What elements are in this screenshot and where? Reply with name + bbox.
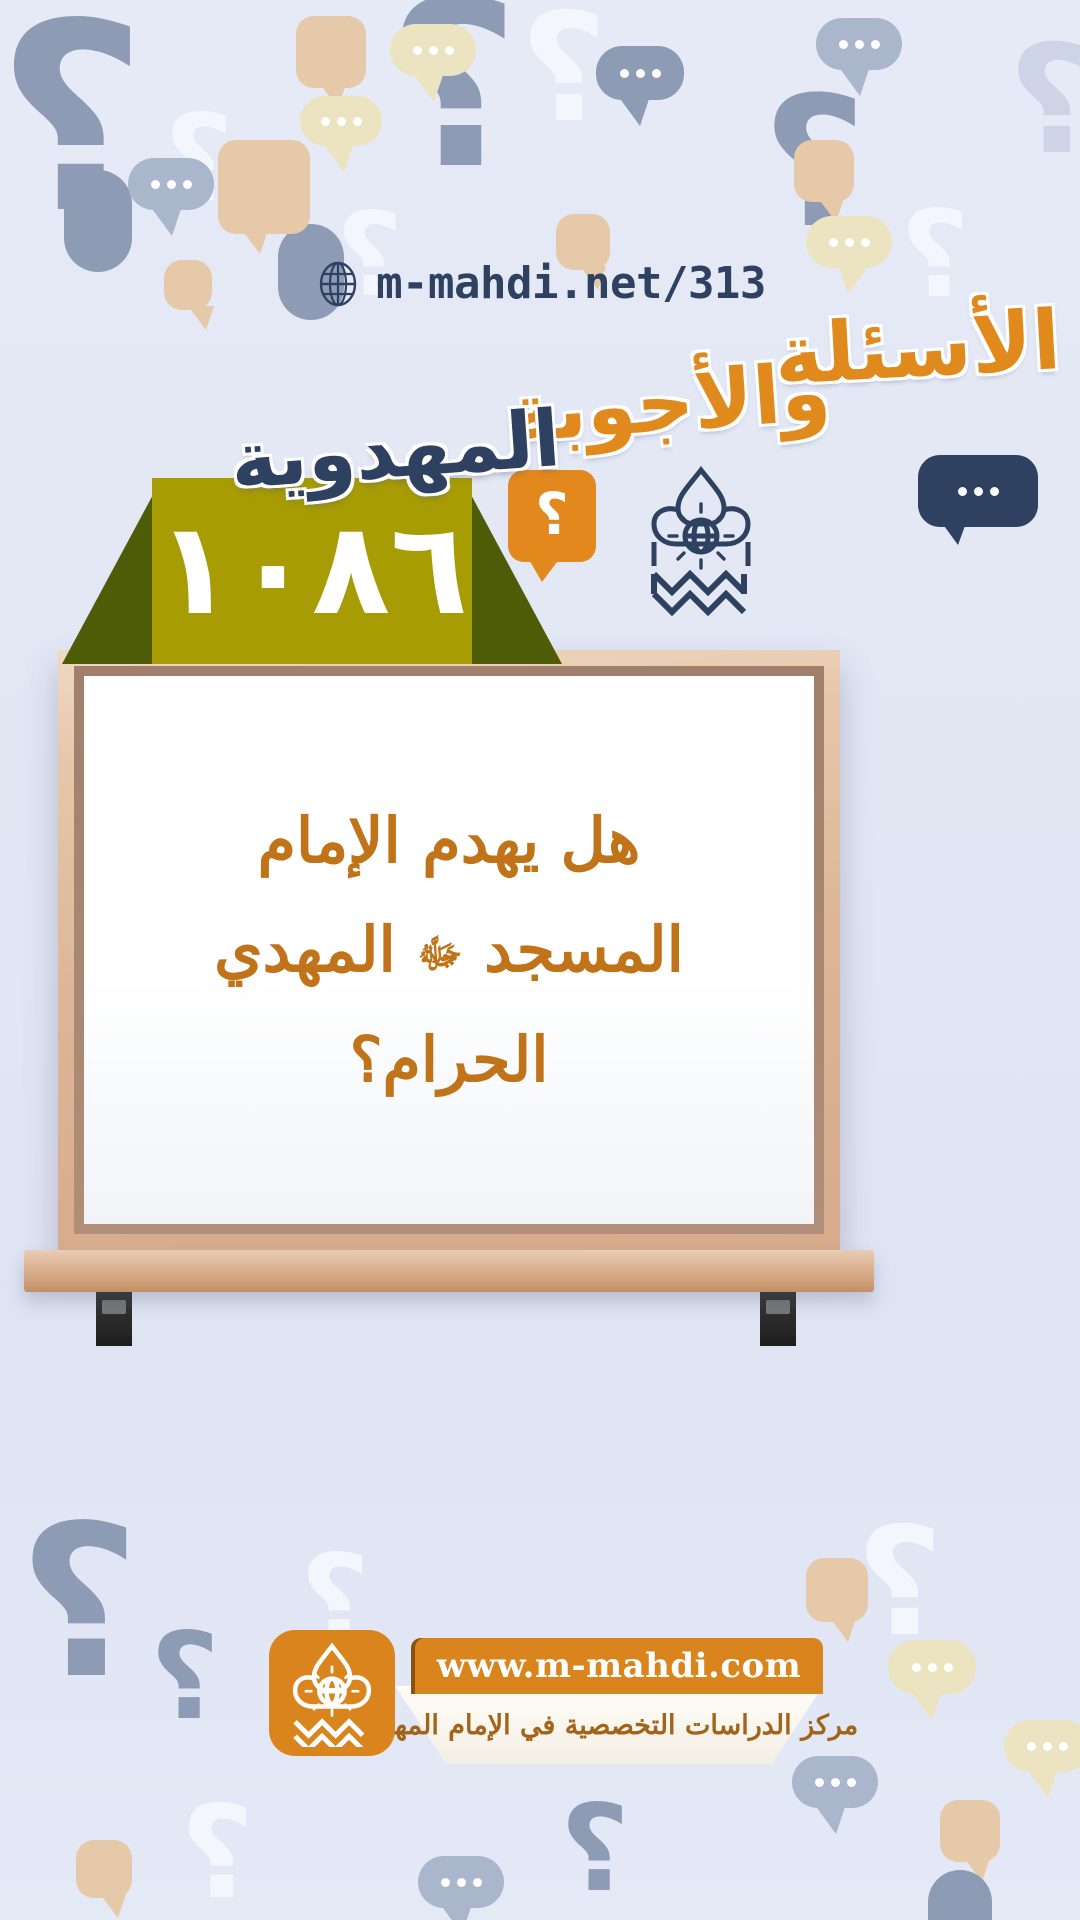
- speech-bubble-icon: [918, 455, 1038, 527]
- question-bubble-tan: ؟: [806, 1558, 868, 1622]
- question-mark-decor: ؟: [386, 0, 519, 202]
- question-board-face: هل يهدم الإمام المسجد ﷻ المهدي الحرام؟: [84, 676, 814, 1224]
- question-bubble-tan: ؟: [218, 140, 310, 234]
- issue-number-banner: ١٠٨٦: [62, 478, 562, 664]
- site-url-row: m-mahdi.net/313: [0, 258, 1080, 309]
- footer-url-text: www.m-mahdi.com: [415, 1638, 823, 1694]
- question-line-3: الحرام؟: [350, 1025, 549, 1094]
- honorific-glyph: ﷻ: [417, 931, 462, 978]
- question-bubble-tan: ؟: [296, 16, 366, 88]
- shelf-bracket-right: [760, 1292, 796, 1346]
- question-board-inner-bevel: هل يهدم الإمام المسجد ﷻ المهدي الحرام؟: [74, 666, 824, 1234]
- question-bubble-tan: ؟: [940, 1800, 1000, 1862]
- dots-bubble-cream: [300, 96, 382, 146]
- question-badge-glyph: ؟: [535, 485, 569, 543]
- question-bubble-tan: ؟: [794, 140, 854, 202]
- question-board-frame: هل يهدم الإمام المسجد ﷻ المهدي الحرام؟: [58, 650, 840, 1250]
- logo-glyph: [278, 1639, 386, 1747]
- dots-bubble-grey: [128, 158, 214, 210]
- question-mark-decor: ؟: [762, 74, 866, 254]
- question-mark-decor: ؟: [180, 1790, 254, 1918]
- footer-scroll-banner: www.m-mahdi.com مركز الدراسات التخصصية ف…: [395, 1638, 823, 1764]
- dots-bubble-cream: [390, 24, 476, 76]
- question-mark-decor: ؟: [560, 1790, 630, 1910]
- question-line-1: هل يهدم الإمام: [258, 806, 641, 875]
- question-line-2: المسجد ﷻ المهدي: [214, 915, 684, 984]
- mosque-globe-logo-icon: [269, 1630, 395, 1756]
- poster-root: ؟ ؟ ؟ ؟ ؟ ؟ ؟ ؟ ؟ ؟ ؟ ؟ ؟: [0, 0, 1080, 1920]
- globe-icon: [314, 260, 362, 308]
- blob-decor: [64, 170, 132, 272]
- bubble-dots: [918, 455, 1038, 527]
- footer-logo: www.m-mahdi.com مركز الدراسات التخصصية ف…: [0, 1630, 1080, 1764]
- blob-decor: [928, 1870, 992, 1920]
- site-url-text: m-mahdi.net/313: [376, 258, 766, 309]
- dots-bubble-grey: [418, 1856, 504, 1908]
- question-mark-decor: ؟: [1008, 26, 1080, 176]
- shelf-bracket-left: [96, 1292, 132, 1346]
- mosque-globe-ornament-icon: [620, 462, 782, 642]
- title-line-3: المهدوية: [228, 400, 563, 501]
- dots-bubble-grey: [816, 18, 902, 70]
- footer-arabic-text: مركز الدراسات التخصصية في الإمام المهدي: [395, 1692, 823, 1758]
- dots-bubble-grey: [596, 46, 684, 100]
- shelf: [24, 1250, 874, 1292]
- question-mark-decor: ؟: [164, 100, 234, 220]
- question-bubble-tan: ؟: [76, 1840, 132, 1898]
- question-mark-decor: ؟: [0, 0, 147, 250]
- issue-number-text: ١٠٨٦: [62, 478, 562, 664]
- question-line-2-part-a: المهدي: [214, 913, 396, 986]
- question-mark-decor: ؟: [520, 0, 607, 144]
- question-line-2-part-b: المسجد: [484, 913, 684, 986]
